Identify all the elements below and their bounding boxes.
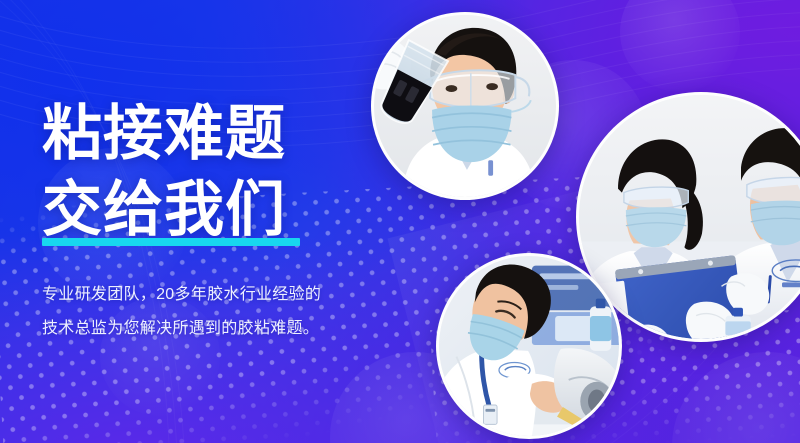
photo-scientist-holding-beaker bbox=[371, 12, 559, 200]
headline-underline-accent bbox=[42, 238, 300, 246]
background-glow-circle bbox=[672, 352, 800, 443]
headline-line-2: 交给我们 bbox=[42, 180, 286, 240]
background-glow-circle bbox=[620, 0, 740, 92]
photo-technician-applying-adhesive bbox=[436, 253, 622, 439]
headline-line-1: 粘接难题 bbox=[42, 104, 286, 164]
subcopy-line-2: 技术总监为您解决所遇到的胶粘难题。 bbox=[42, 312, 372, 346]
banner-copy: 粘接难题 交给我们 专业研发团队，20多年胶水行业经验的 技术总监为您解决所遇到… bbox=[0, 0, 360, 443]
promo-banner: 粘接难题 交给我们 专业研发团队，20多年胶水行业经验的 技术总监为您解决所遇到… bbox=[0, 0, 800, 443]
subcopy-line-1: 专业研发团队，20多年胶水行业经验的 bbox=[42, 278, 372, 312]
